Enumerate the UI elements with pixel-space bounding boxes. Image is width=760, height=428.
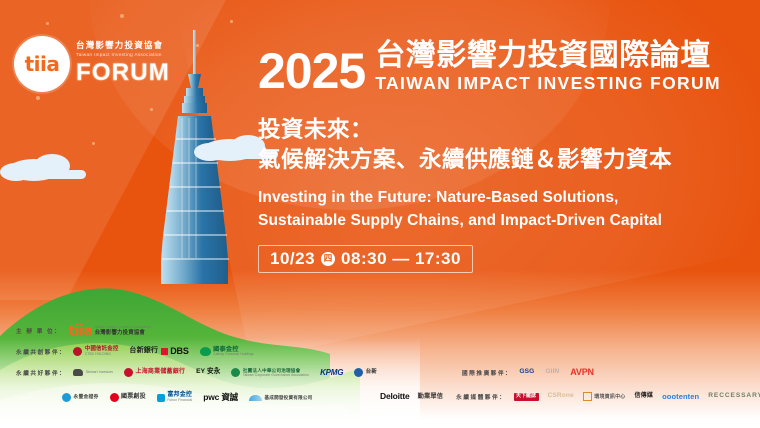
event-weekday-chip: 四 bbox=[321, 252, 335, 266]
sponsor-logo-cn: 基成開發投資有限公司 bbox=[264, 395, 312, 401]
sponsor-logo-en: GSG bbox=[519, 369, 534, 376]
sponsor-logo-tiia[interactable]: tiia Taiwan Impact Investing Association… bbox=[68, 324, 151, 338]
sponsor-logo-en: Stewart Investors bbox=[86, 371, 113, 375]
sponsor-logo-pwc[interactable]: pwc 資誠 bbox=[203, 393, 238, 402]
sponsor-logo-dongshi[interactable]: 勤業眾信 bbox=[418, 393, 444, 400]
sponsor-logo-dbs[interactable]: 台新銀行 DBS bbox=[129, 347, 188, 356]
guoju-mark-icon bbox=[110, 393, 119, 402]
sponsor-logo-en: pwc 資誠 bbox=[203, 393, 238, 402]
sponsor-logo-fubon[interactable]: 富邦金控 Fubon Financial bbox=[157, 392, 192, 403]
cathay-tree-icon bbox=[200, 347, 211, 356]
theme-cn-line-2: 氣候解決方案、永續供應鏈＆影響力資本 bbox=[258, 145, 738, 175]
sponsor-row-cocreation: 永續共創夥伴： 中國信託金控 CTBC HOLDING 台新銀行 DBS bbox=[16, 346, 254, 357]
sponsor-logo-tcga[interactable]: 社團法人中華公司治理協會 Taiwan Corporate Governance… bbox=[231, 368, 309, 377]
sponsor-logo-avpn[interactable]: AVPN bbox=[570, 368, 594, 377]
sponsor-logo-cn: 國票創投 bbox=[121, 394, 146, 401]
theme-en-line-2: Sustainable Supply Chains, and Impact-Dr… bbox=[258, 210, 738, 232]
sponsor-logo-cn: 台灣影響力投資協會 bbox=[95, 330, 151, 336]
sponsor-row-goodpartners: 永續共好夥伴： Stewart Investors 上海商業儲蓄銀行 EY 安永… bbox=[16, 368, 377, 377]
sponsor-logo-wave[interactable]: 基成開發投資有限公司 bbox=[249, 395, 312, 401]
sponsor-logo-en: Deloitte bbox=[380, 392, 410, 401]
sponsor-logo-cn: 勤業眾信 bbox=[418, 393, 444, 400]
sponsor-logo-en: oootenten bbox=[662, 393, 699, 401]
sponsor-logo-tenten[interactable]: oootenten bbox=[662, 393, 699, 401]
wave-icon bbox=[249, 395, 262, 401]
sponsor-logo-cn: 台新 bbox=[366, 369, 377, 375]
sponsor-logo-scsb[interactable]: 上海商業儲蓄銀行 bbox=[124, 368, 185, 377]
sponsor-logo-en: Taiwan Corporate Governance Association bbox=[243, 374, 309, 378]
event-year: 2025 bbox=[258, 48, 365, 94]
sponsor-logo-cn: 天下雜誌 bbox=[514, 393, 539, 401]
sponsor-logo-kpmg[interactable]: KPMG bbox=[320, 369, 343, 377]
sponsor-row-label: 永續共好夥伴： bbox=[16, 369, 66, 377]
sponsor-logo-guoju[interactable]: 國票創投 bbox=[110, 393, 146, 402]
sponsor-logo-cn: 上海商業儲蓄銀行 bbox=[136, 369, 186, 376]
sponsor-logo-deloitte[interactable]: Deloitte bbox=[380, 392, 410, 401]
scsb-mark-icon bbox=[124, 368, 133, 377]
title-row: 2025 台灣影響力投資國際論壇 TAIWAN IMPACT INVESTING… bbox=[258, 40, 738, 94]
sponsor-logo-huanjing[interactable]: 環境資訊中心 bbox=[583, 392, 626, 401]
event-time: 08:30 — 17:30 bbox=[341, 250, 461, 267]
sponsor-row-organiser: 主 辦 單 位： tiia Taiwan Impact Investing As… bbox=[16, 324, 151, 338]
theme-cn-line-1: 投資未來： bbox=[258, 115, 738, 145]
sponsor-logo-en: GIIN bbox=[545, 369, 559, 376]
tiia-wordmark-small: tiia bbox=[68, 324, 92, 338]
event-title-en: TAIWAN IMPACT INVESTING FORUM bbox=[375, 73, 721, 94]
sponsor-logo-csrone[interactable]: CSRone bbox=[548, 393, 574, 400]
sponsor-logo-cathay[interactable]: 國泰金控 Cathay Financial Holdings bbox=[200, 346, 254, 357]
association-name-cn: 台灣影響力投資協會 bbox=[76, 40, 170, 51]
huanjing-mark-icon bbox=[583, 392, 592, 401]
poster-text-column: 2025 台灣影響力投資國際論壇 TAIWAN IMPACT INVESTING… bbox=[258, 40, 738, 273]
sponsor-logo-en: KPMG bbox=[320, 369, 343, 377]
sponsor-logo-tianxia[interactable]: 天下雜誌 bbox=[514, 393, 539, 401]
sponsor-logo-cn: 信傳媒 bbox=[634, 393, 653, 400]
forum-wordmark: FORUM bbox=[76, 61, 170, 85]
sponsor-logo-cn: 永豐金證券 bbox=[74, 395, 99, 401]
tcga-mark-icon bbox=[231, 368, 240, 377]
event-title-cn: 台灣影響力投資國際論壇 bbox=[375, 40, 721, 72]
taishin-mark-icon bbox=[354, 368, 363, 377]
sponsor-logo-stewart[interactable]: Stewart Investors bbox=[73, 369, 113, 376]
tiia-logo-mark: tiia bbox=[14, 36, 70, 92]
ctbc-mark-icon bbox=[73, 347, 82, 356]
association-name-en: Taiwan Impact Investing Association bbox=[76, 52, 170, 58]
sinopac-mark-icon bbox=[62, 393, 71, 402]
sponsor-row-label: 永續共創夥伴： bbox=[16, 348, 66, 356]
sponsor-logo-ey[interactable]: EY 安永 bbox=[196, 369, 220, 376]
cloud-left-icon bbox=[0, 148, 120, 188]
sponsor-row-label: 永續媒體夥伴： bbox=[456, 393, 506, 401]
sponsor-logo-giin[interactable]: GIIN bbox=[545, 369, 559, 376]
sponsor-row-media: Deloitte 勤業眾信 永續媒體夥伴： 天下雜誌 CSRone 環境資訊中心 bbox=[380, 392, 760, 401]
sponsor-logo-taishin[interactable]: 台新 bbox=[354, 368, 377, 377]
sponsor-row-label: 國際推廣夥伴： bbox=[462, 369, 512, 377]
sponsor-logo-en: CTBC HOLDING bbox=[85, 353, 119, 357]
sponsor-logo-en: Fubon Financial bbox=[167, 399, 192, 403]
sponsor-logo-gsg[interactable]: GSG bbox=[519, 369, 534, 376]
event-poster: tiia 台灣影響力投資協會 Taiwan Impact Investing A… bbox=[0, 0, 760, 428]
sponsor-logo-en: AVPN bbox=[570, 368, 594, 377]
sponsor-logo-en: EY 安永 bbox=[196, 369, 220, 376]
sponsor-logo-en: CSRone bbox=[548, 393, 574, 400]
tiia-forum-logo: tiia 台灣影響力投資協會 Taiwan Impact Investing A… bbox=[14, 36, 170, 92]
event-datetime-badge: 10/23 四 08:30 — 17:30 bbox=[258, 245, 473, 273]
sponsor-logo-reccessary[interactable]: RECCESSARY bbox=[708, 393, 760, 400]
sponsor-row-international: 國際推廣夥伴： GSG GIIN AVPN bbox=[462, 368, 594, 377]
sponsor-logo-en: Cathay Financial Holdings bbox=[213, 353, 254, 357]
sponsor-logo-en: RECCESSARY bbox=[708, 393, 760, 400]
sponsor-row-goodpartners-2: 永豐金證券 國票創投 富邦金控 Fubon Financial pwc 資誠 bbox=[62, 392, 312, 403]
fubon-mark-icon bbox=[157, 394, 165, 402]
elephant-icon bbox=[73, 369, 83, 376]
theme-en: Investing in the Future: Nature-Based So… bbox=[258, 187, 738, 232]
sponsor-logo-cn: 台新銀行 bbox=[129, 347, 158, 355]
event-date: 10/23 bbox=[270, 250, 315, 267]
tiia-wordmark: tiia bbox=[25, 54, 60, 74]
theme-en-line-1: Investing in the Future: Nature-Based So… bbox=[258, 187, 738, 209]
sponsor-logo-chuanpin[interactable]: 信傳媒 bbox=[634, 393, 653, 400]
sponsor-logo-ctbc[interactable]: 中國信託金控 CTBC HOLDING bbox=[73, 346, 118, 356]
sponsor-logo-cn: 環境資訊中心 bbox=[594, 394, 625, 400]
dbs-mark-icon bbox=[161, 348, 168, 355]
sponsor-logo-sinopac[interactable]: 永豐金證券 bbox=[62, 393, 99, 402]
sponsor-logo-en: DBS bbox=[170, 347, 188, 356]
sponsor-section: 主 辦 單 位： tiia Taiwan Impact Investing As… bbox=[0, 318, 760, 428]
sponsor-row-label: 主 辦 單 位： bbox=[16, 327, 61, 335]
